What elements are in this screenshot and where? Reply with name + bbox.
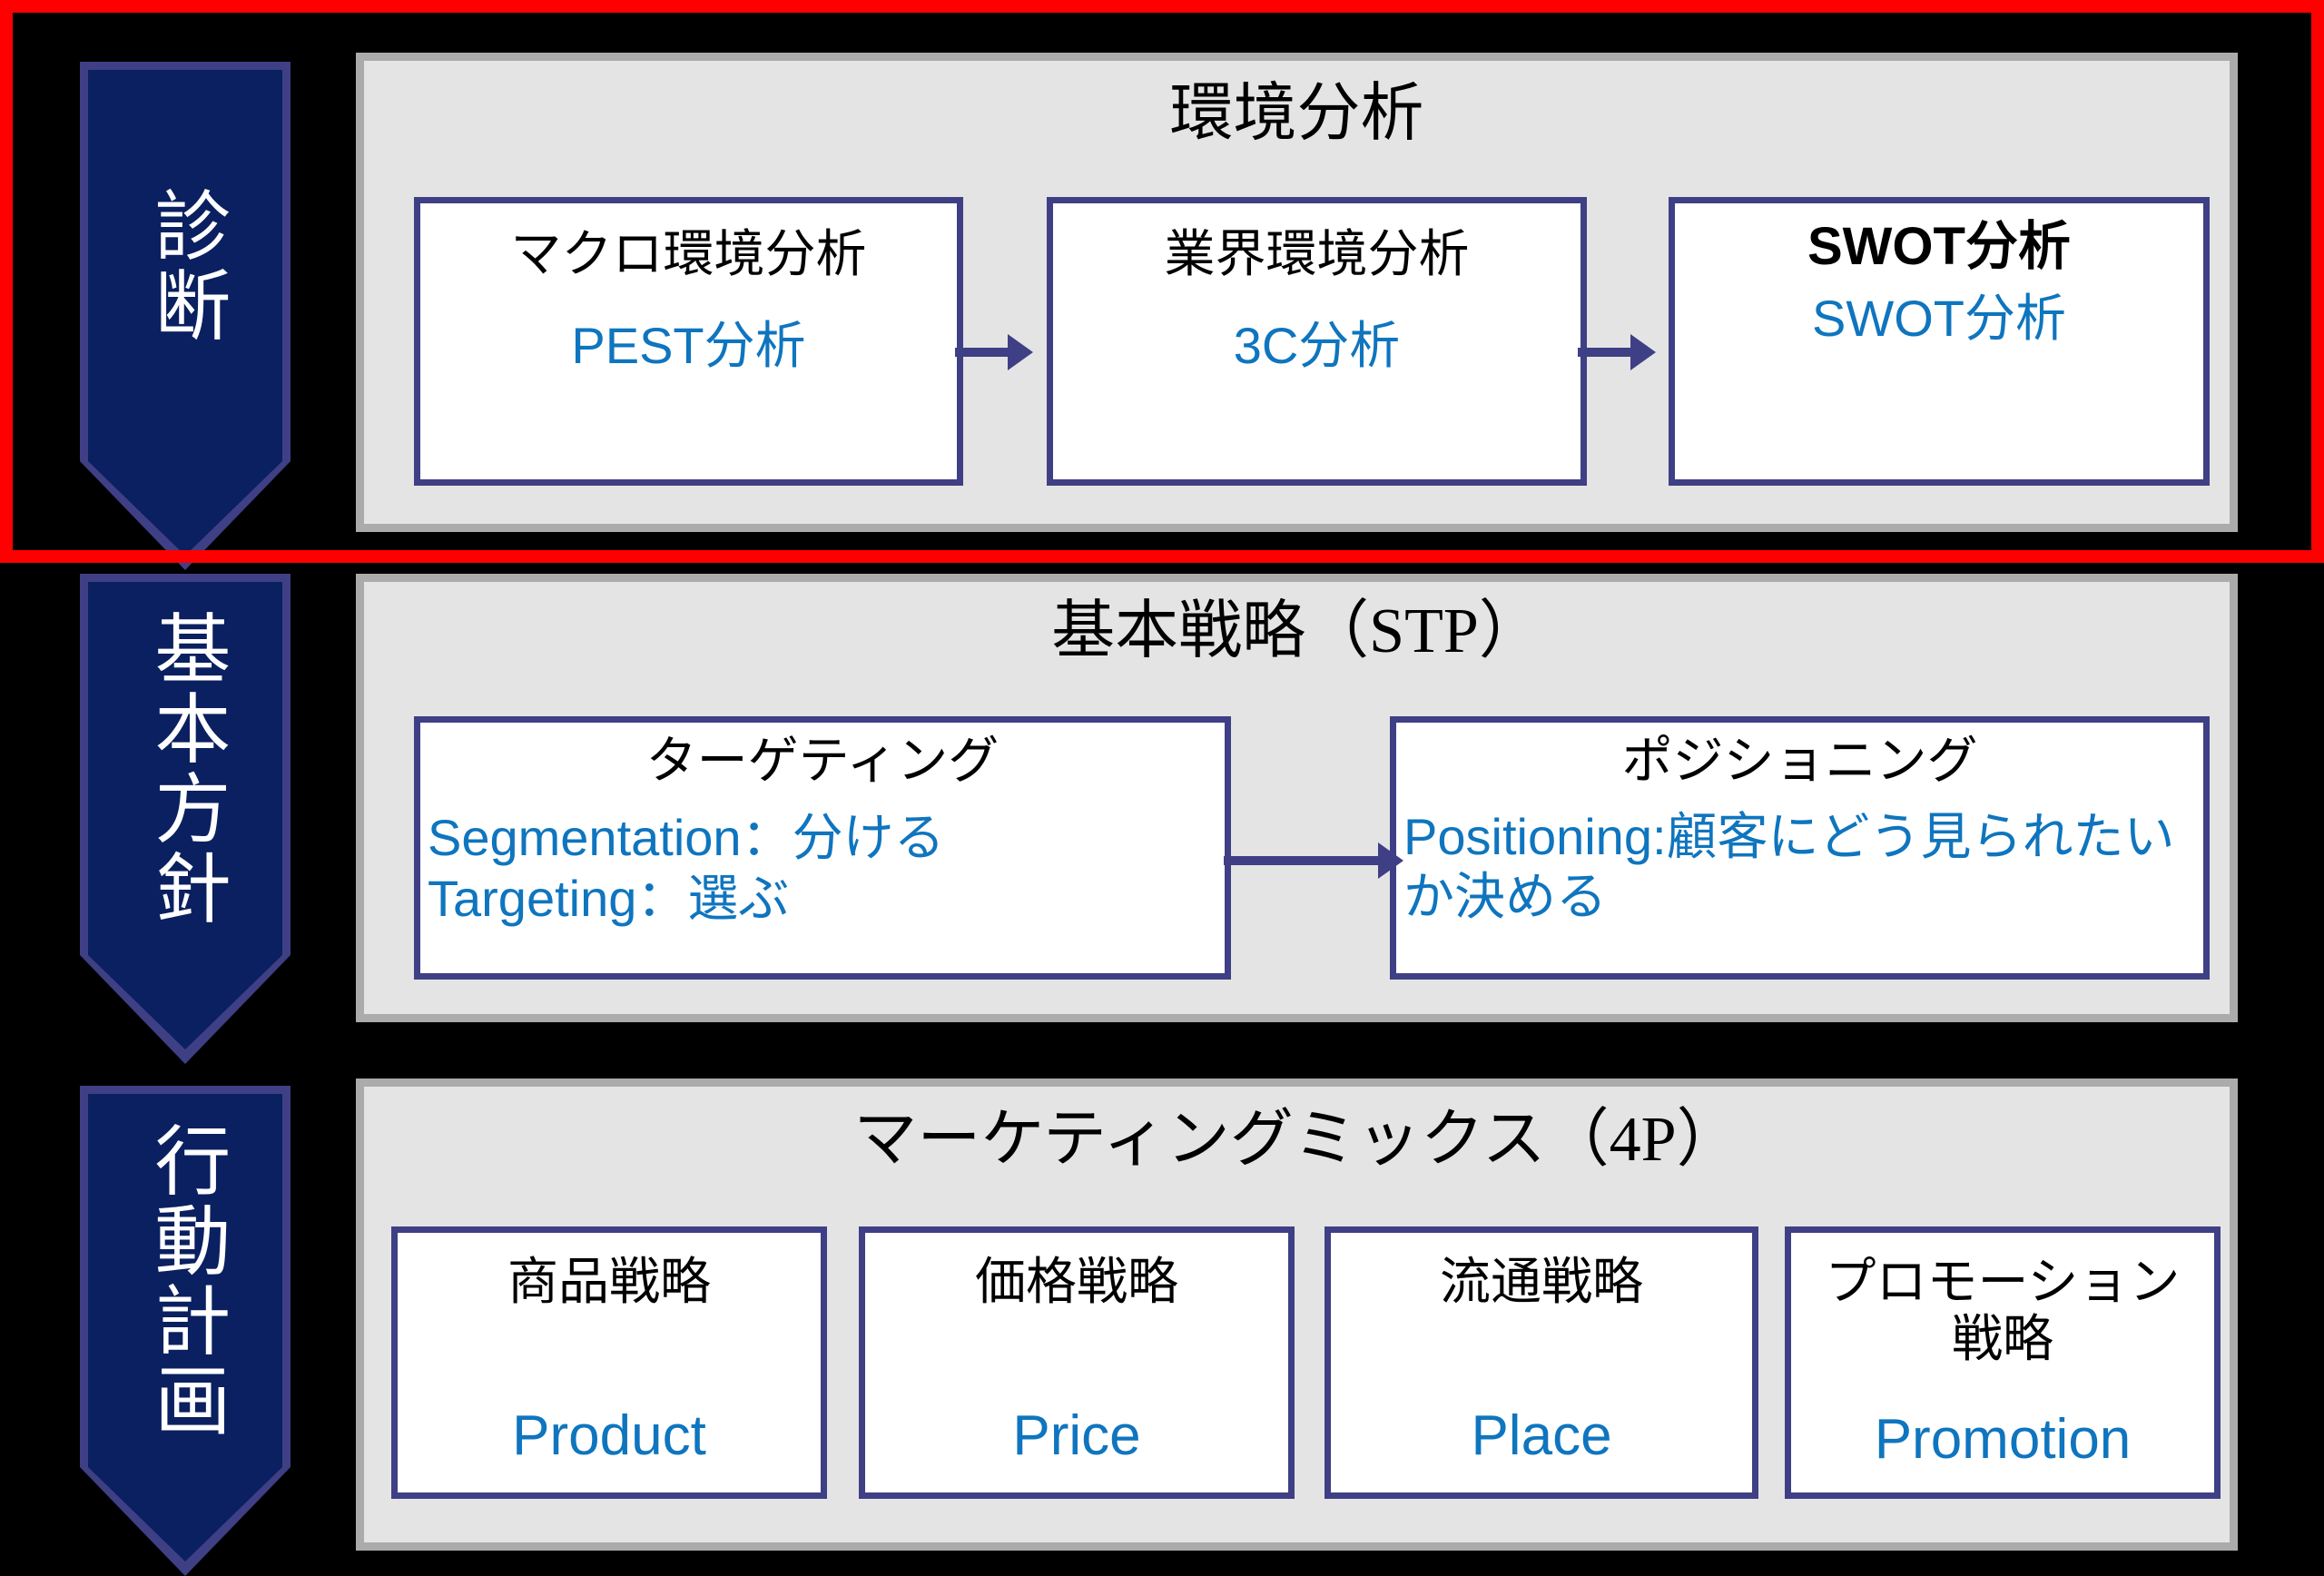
card-subtitle: SWOT分析 (1675, 277, 2203, 348)
flow-arrow-macro-to-industry (955, 348, 1009, 357)
card-title: 商品戦略 (398, 1233, 821, 1312)
card-positioning: ポジショニング Positioning:顧客にどう見られたいか決める (1390, 716, 2210, 980)
stage-arrow-label-diagnosis: 診断 (88, 70, 282, 461)
card-title: ポジショニング (1396, 723, 2203, 791)
card-macro-environment-analysis: マクロ環境分析 PEST分析 (414, 197, 963, 486)
stage-arrow-action-plan: 行動計画 (80, 1086, 290, 1467)
stage-arrow-tip (80, 461, 290, 570)
section-title-environment-analysis: 環境分析 (364, 61, 2230, 148)
section-panel-environment-analysis: 環境分析 マクロ環境分析 PEST分析 業界環境分析 3C分析 SWOT分析 S… (356, 53, 2238, 532)
card-subtitle: Product (398, 1404, 821, 1492)
stage-arrow-tip (80, 1467, 290, 1576)
card-subtitle: Positioning:顧客にどう見られたいか決める (1396, 791, 2203, 927)
card-price-strategy: 価格戦略 Price (859, 1226, 1295, 1499)
card-subtitle: PEST分析 (420, 284, 957, 375)
stage-arrow-tip (80, 955, 290, 1064)
card-subtitle: Place (1331, 1404, 1752, 1492)
card-swot-analysis: SWOT分析 SWOT分析 (1669, 197, 2210, 486)
card-title: 流通戦略 (1331, 1233, 1752, 1312)
card-title: マクロ環境分析 (420, 203, 957, 284)
card-subtitle: Price (865, 1404, 1288, 1492)
card-title: ターゲティング (420, 723, 1225, 791)
card-title: 価格戦略 (865, 1233, 1288, 1312)
card-promotion-strategy: プロモーション戦略 Promotion (1785, 1226, 2221, 1499)
card-subtitle: Promotion (1791, 1408, 2214, 1492)
card-targeting: ターゲティング Segmentation：分けるTargeting：選ぶ (414, 716, 1231, 980)
flow-arrow-industry-to-swot (1578, 348, 1632, 357)
card-title: プロモーション戦略 (1791, 1233, 2214, 1368)
card-product-strategy: 商品戦略 Product (391, 1226, 827, 1499)
card-title: 業界環境分析 (1053, 203, 1581, 284)
flow-arrow-targeting-to-positioning (1224, 856, 1380, 865)
card-subtitle: 3C分析 (1053, 284, 1581, 375)
card-place-strategy: 流通戦略 Place (1324, 1226, 1758, 1499)
stage-arrow-basic-policy: 基本方針 (80, 574, 290, 955)
section-title-marketing-mix-4p: マーケティングミックス（4P） (364, 1087, 2230, 1174)
stage-arrow-label-action-plan: 行動計画 (88, 1094, 282, 1467)
stage-arrow-diagnosis: 診断 (80, 62, 290, 461)
card-industry-environment-analysis: 業界環境分析 3C分析 (1047, 197, 1587, 486)
card-title: SWOT分析 (1675, 203, 2203, 277)
stage-arrow-label-basic-policy: 基本方針 (88, 582, 282, 955)
section-panel-marketing-mix-4p: マーケティングミックス（4P） 商品戦略 Product 価格戦略 Price … (356, 1079, 2238, 1551)
section-panel-basic-strategy-stp: 基本戦略（STP） ターゲティング Segmentation：分けるTarget… (356, 574, 2238, 1022)
card-subtitle: Segmentation：分けるTargeting：選ぶ (420, 791, 1225, 929)
section-title-basic-strategy-stp: 基本戦略（STP） (364, 582, 2230, 665)
